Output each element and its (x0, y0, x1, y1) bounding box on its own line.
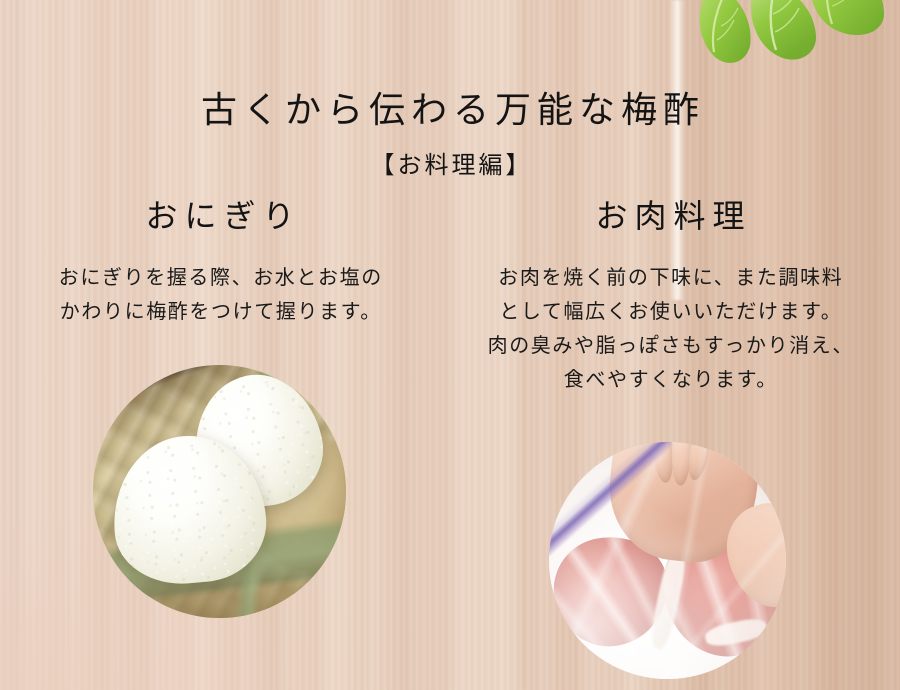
body-line: かわりに梅酢をつけて握ります。 (10, 294, 430, 328)
section-heading-onigiri: おにぎり (10, 200, 430, 240)
page-title: 古くから伝わる万能な梅酢 (0, 93, 900, 129)
meat-photo (549, 442, 786, 679)
leaf-icon (690, 0, 900, 76)
meat-photo-content (549, 442, 786, 679)
section-meat: お肉料理 お肉を焼く前の下味に、また調味料 として幅広くお使いいただけます。 肉… (450, 200, 890, 396)
bag-zipper-seal-highlight (549, 442, 663, 556)
onigiri-photo (93, 365, 346, 618)
body-line: 食べやすくなります。 (450, 362, 890, 396)
onigiri-photo-content (93, 365, 346, 618)
umezu-cooking-banner: 古くから伝わる万能な梅酢 【お料理編】 おにぎり おにぎりを握る際、お水とお塩の… (0, 0, 900, 690)
body-line: おにぎりを握る際、お水とお塩の (10, 260, 430, 294)
body-line: 肉の臭みや脂っぽさもすっかり消え、 (450, 328, 890, 362)
section-body-meat: お肉を焼く前の下味に、また調味料 として幅広くお使いいただけます。 肉の臭みや脂… (450, 240, 890, 396)
section-body-onigiri: おにぎりを握る際、お水とお塩の かわりに梅酢をつけて握ります。 (10, 240, 430, 328)
page-subtitle: 【お料理編】 (0, 153, 900, 177)
section-onigiri: おにぎり おにぎりを握る際、お水とお塩の かわりに梅酢をつけて握ります。 (10, 200, 430, 328)
body-line: お肉を焼く前の下味に、また調味料 (450, 260, 890, 294)
section-heading-meat: お肉料理 (450, 200, 890, 240)
body-line: として幅広くお使いいただけます。 (450, 294, 890, 328)
